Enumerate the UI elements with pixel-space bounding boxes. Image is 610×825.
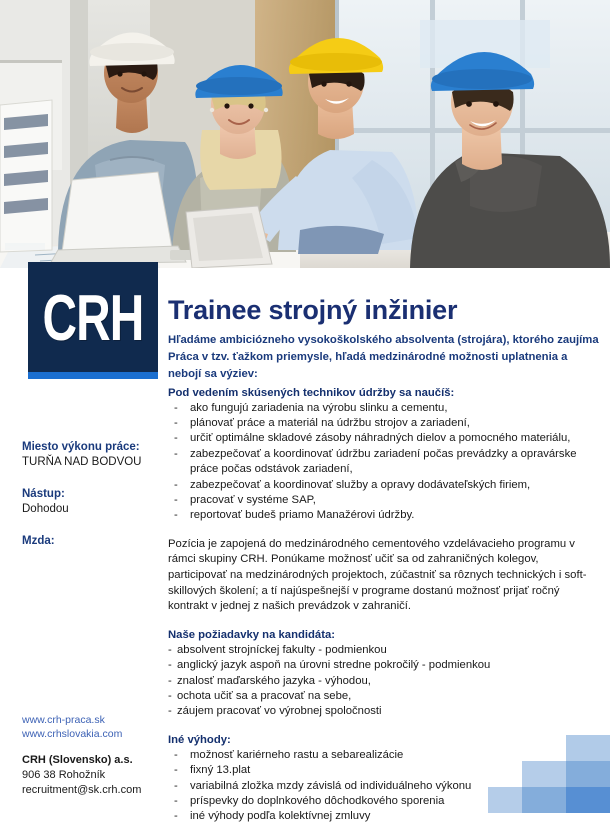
recruitment-email[interactable]: recruitment@sk.crh.com (22, 783, 172, 798)
office-team-photo (0, 0, 610, 268)
crh-logo-block: CRH (28, 262, 158, 372)
salary-label: Mzda: (22, 534, 160, 549)
company-name: CRH (Slovensko) a.s. (22, 753, 172, 768)
job-title: Trainee strojný inžinier (168, 294, 600, 326)
intro-line: Práca v tzv. ťažkom priemysle, hľadá med… (168, 350, 600, 365)
decorative-square (522, 761, 566, 787)
list-item: ochota učiť sa a pracovať na sebe, (168, 689, 600, 704)
start-value: Dohodou (22, 502, 160, 517)
requirements-list: absolvent strojníckej fakulty - podmienk… (168, 643, 600, 720)
job-meta-sidebar: Miesto výkonu práce: TURŇA NAD BODVOU Ná… (0, 440, 160, 566)
contact-block: www.crh-praca.sk www.crhslovakia.com CRH… (22, 713, 172, 798)
tablet (186, 206, 272, 268)
company-address: 906 38 Rohožník (22, 768, 172, 783)
meta-location: Miesto výkonu práce: TURŇA NAD BODVOU (0, 440, 160, 470)
list-item: zabezpečovať a koordinovať údržbu zariad… (168, 447, 600, 478)
intro-paragraph: Hľadáme ambiciózneho vysokoškolského abs… (168, 333, 600, 383)
start-label: Nástup: (22, 487, 160, 502)
list-item: plánovať práce a materiál na údržbu stro… (168, 416, 600, 431)
list-item: reportovať budeš priamo Manažérovi údržb… (168, 508, 600, 523)
decorative-square (522, 787, 566, 813)
decorative-squares (488, 735, 610, 813)
logo-accent-bar (28, 372, 158, 379)
decorative-square (566, 735, 610, 761)
learn-heading: Pod vedením skúsených technikov údržby s… (168, 385, 600, 401)
location-value: TURŇA NAD BODVOU (22, 455, 160, 470)
meta-salary: Mzda: (0, 534, 160, 549)
list-item: znalosť maďarského jazyka - výhodou, (168, 674, 600, 689)
list-item: zabezpečovať a koordinovať služby a opra… (168, 478, 600, 493)
decorative-square (488, 787, 522, 813)
learn-list: ako fungujú zariadenia na výrobu slinku … (168, 401, 600, 524)
list-item: ako fungujú zariadenia na výrobu slinku … (168, 401, 600, 416)
website-secondary-link[interactable]: www.crhslovakia.com (22, 727, 172, 741)
location-label: Miesto výkonu práce: (22, 440, 160, 455)
website-primary-link[interactable]: www.crh-praca.sk (22, 713, 172, 727)
list-item: anglický jazyk aspoň na úrovni stredne p… (168, 658, 600, 673)
decorative-square (566, 787, 610, 813)
contact-spacer (22, 741, 172, 753)
crh-logo-text: CRH (33, 286, 153, 351)
list-item: určiť optimálne skladové zásoby náhradný… (168, 431, 600, 446)
list-item: záujem pracovať vo výrobnej spoločnosti (168, 704, 600, 719)
intro-line: Hľadáme ambiciózneho vysokoškolského abs… (168, 333, 600, 348)
decorative-square (566, 761, 610, 787)
intro-line: nebojí sa výziev: (168, 367, 600, 382)
requirements-heading: Naše požiadavky na kandidáta: (168, 627, 600, 643)
list-item: absolvent strojníckej fakulty - podmienk… (168, 643, 600, 658)
meta-start-date: Nástup: Dohodou (0, 487, 160, 517)
list-item: pracovať v systéme SAP, (168, 493, 600, 508)
header-photo-banner (0, 0, 610, 268)
program-paragraph: Pozícia je zapojená do medzinárodného ce… (168, 537, 600, 615)
